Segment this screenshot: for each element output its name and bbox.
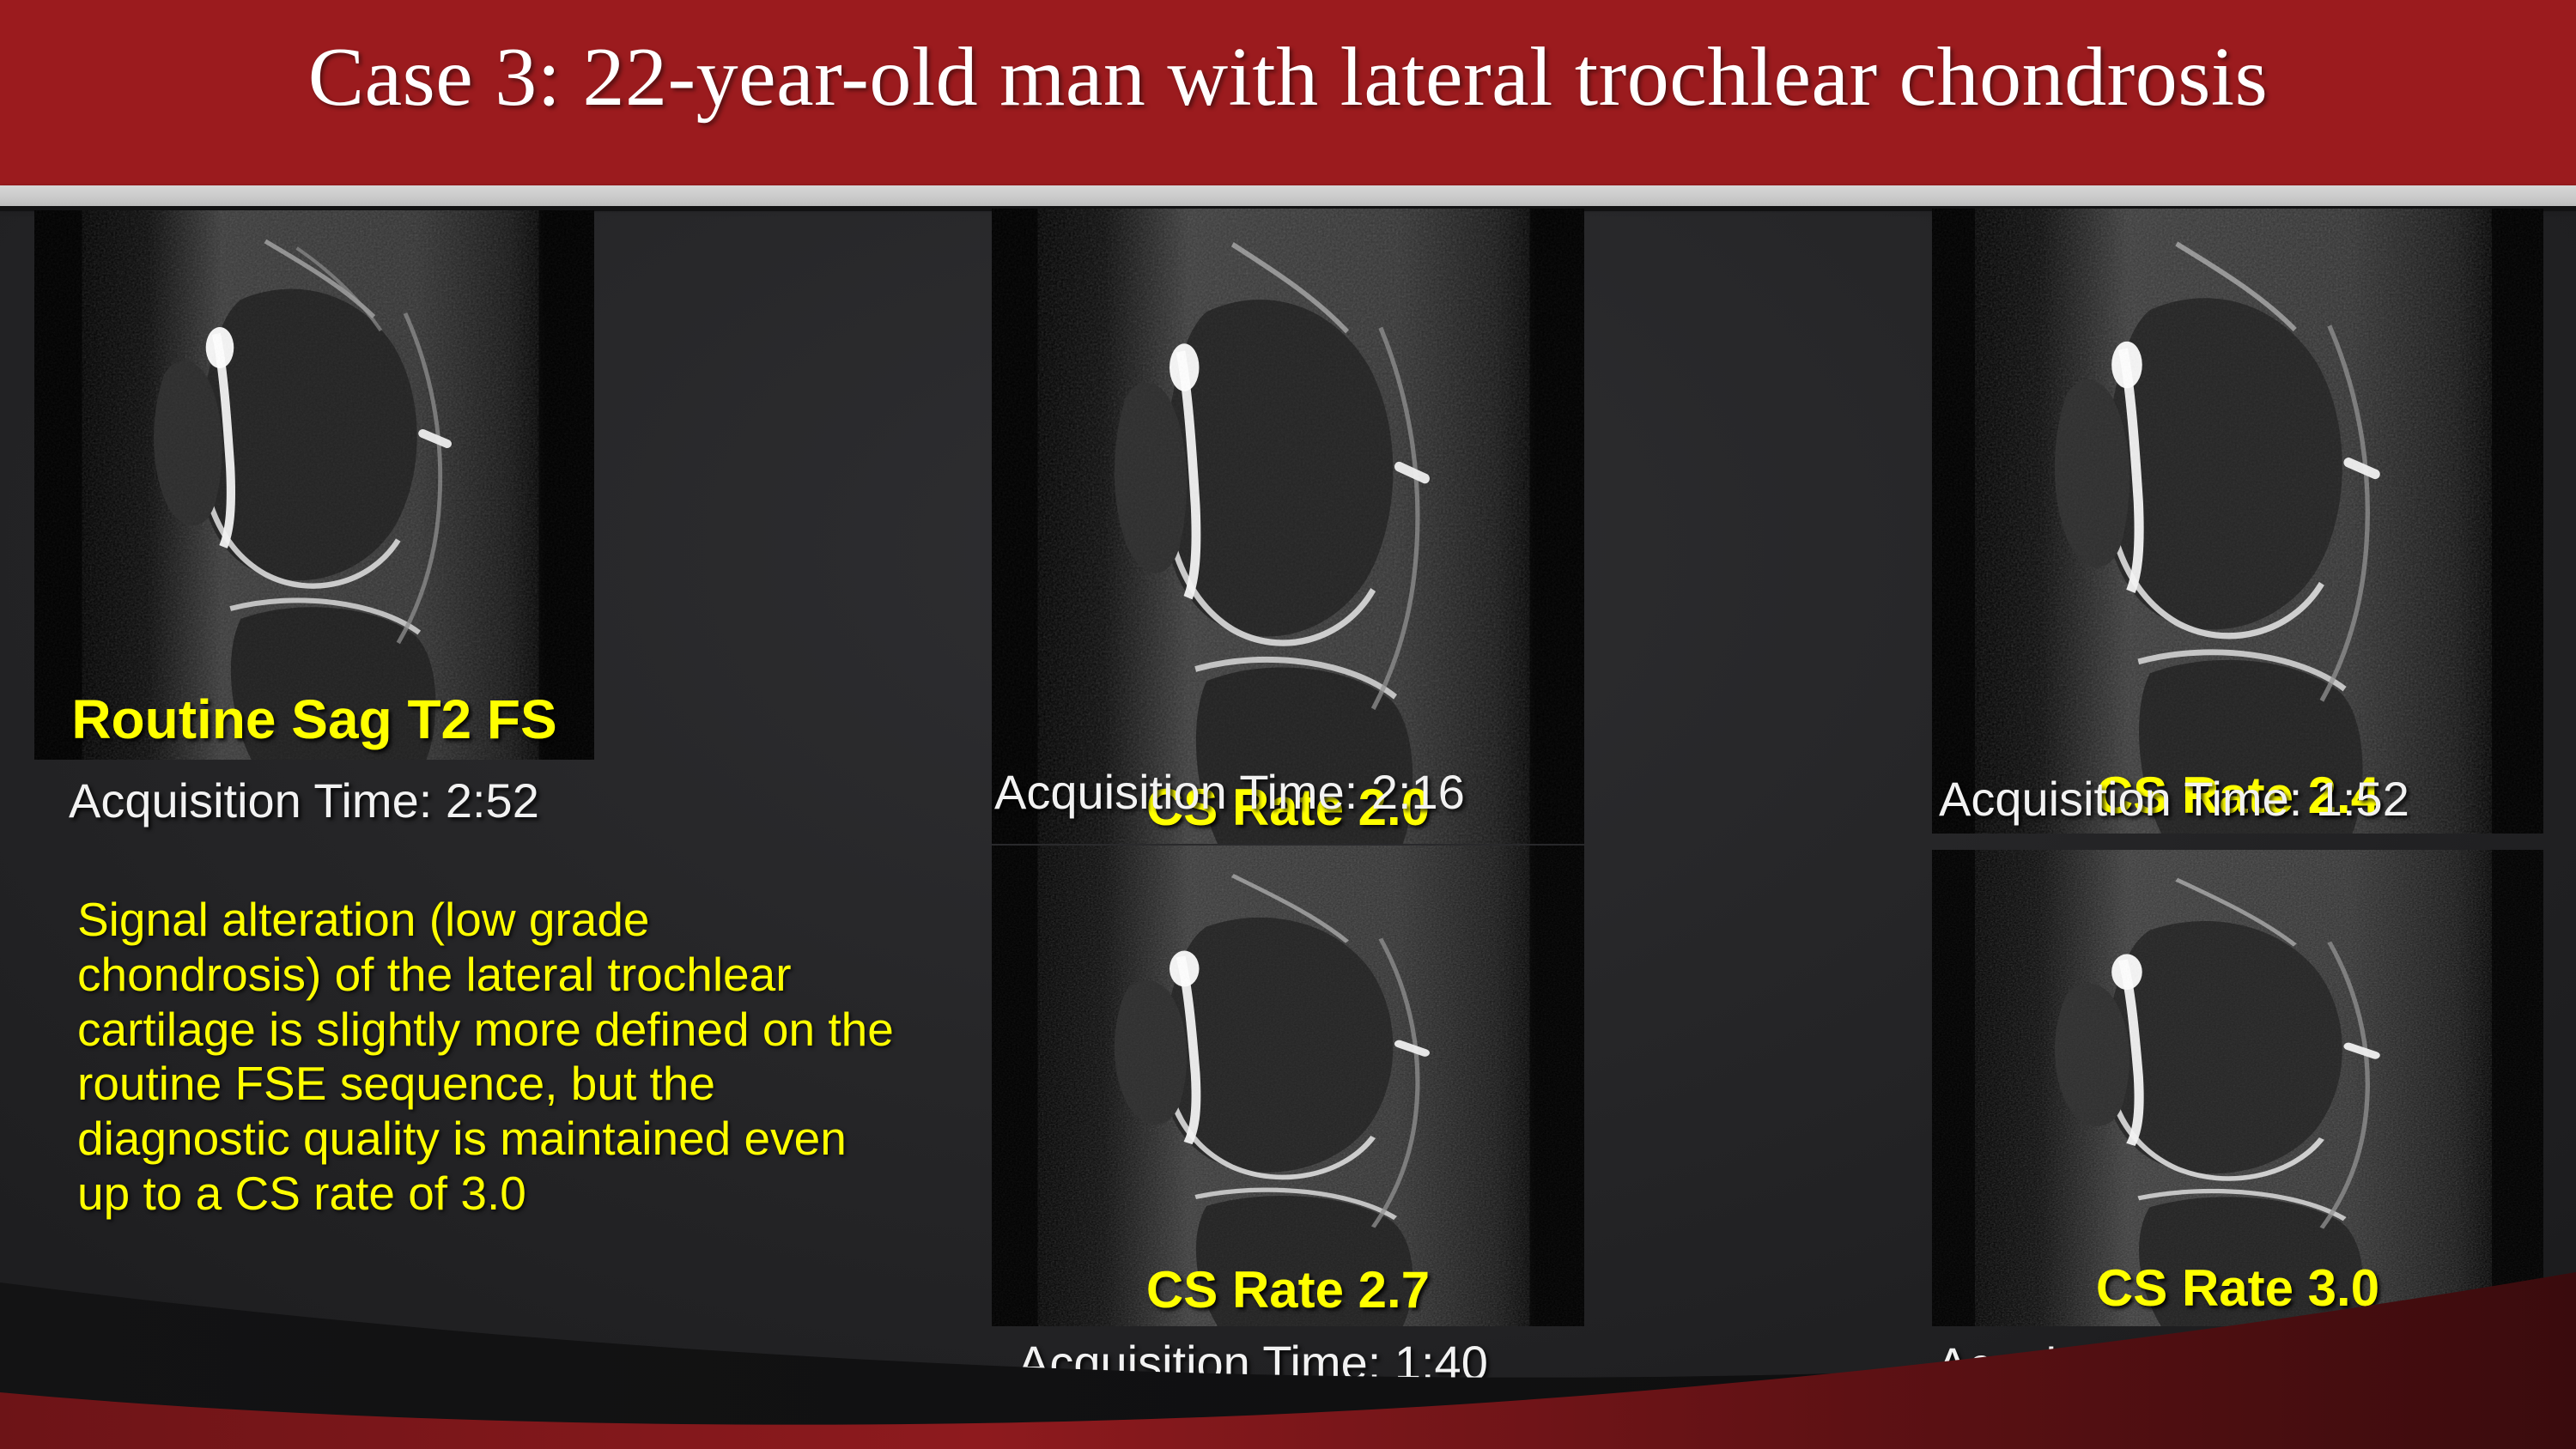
acquisition-time-cs-rate-3-0: Acquisition Time: 1:34 (1936, 1337, 2407, 1392)
slide-header-bar: Case 3: 22-year-old man with lateral tro… (0, 0, 2576, 185)
mri-panel-cs-rate-2-0[interactable]: CS Rate 2.0 (992, 209, 1584, 844)
acquisition-time-routine: Acquisition Time: 2:52 (69, 773, 539, 828)
mri-panel-routine[interactable]: Routine Sag T2 FS (34, 210, 594, 760)
sagittal-knee-mri-image-cs27 (992, 846, 1584, 1326)
sagittal-knee-mri-image-routine (34, 210, 594, 760)
mri-panel-cs-rate-3-0[interactable]: CS Rate 3.0 (1932, 850, 2543, 1326)
findings-note: Signal alteration (low grade chondrosis)… (77, 893, 902, 1222)
acquisition-time-cs-rate-2-4: Acquisition Time: 1:52 (1939, 771, 2409, 827)
sagittal-knee-mri-image-cs24 (1932, 209, 2543, 834)
sagittal-knee-mri-image-cs20 (992, 209, 1584, 844)
header-divider (0, 185, 2576, 206)
mri-panel-cs-rate-2-7[interactable]: CS Rate 2.7 (992, 846, 1584, 1326)
mri-panel-cs-rate-2-4[interactable]: CS Rate 2.4 (1932, 209, 2543, 834)
sagittal-knee-mri-image-cs30 (1932, 850, 2543, 1326)
slide-canvas: Case 3: 22-year-old man with lateral tro… (0, 0, 2576, 1449)
acquisition-time-cs-rate-2-0: Acquisition Time: 2:16 (994, 764, 1465, 820)
acquisition-time-cs-rate-2-7: Acquisition Time: 1:40 (1018, 1335, 1488, 1391)
page-title: Case 3: 22-year-old man with lateral tro… (0, 29, 2576, 125)
